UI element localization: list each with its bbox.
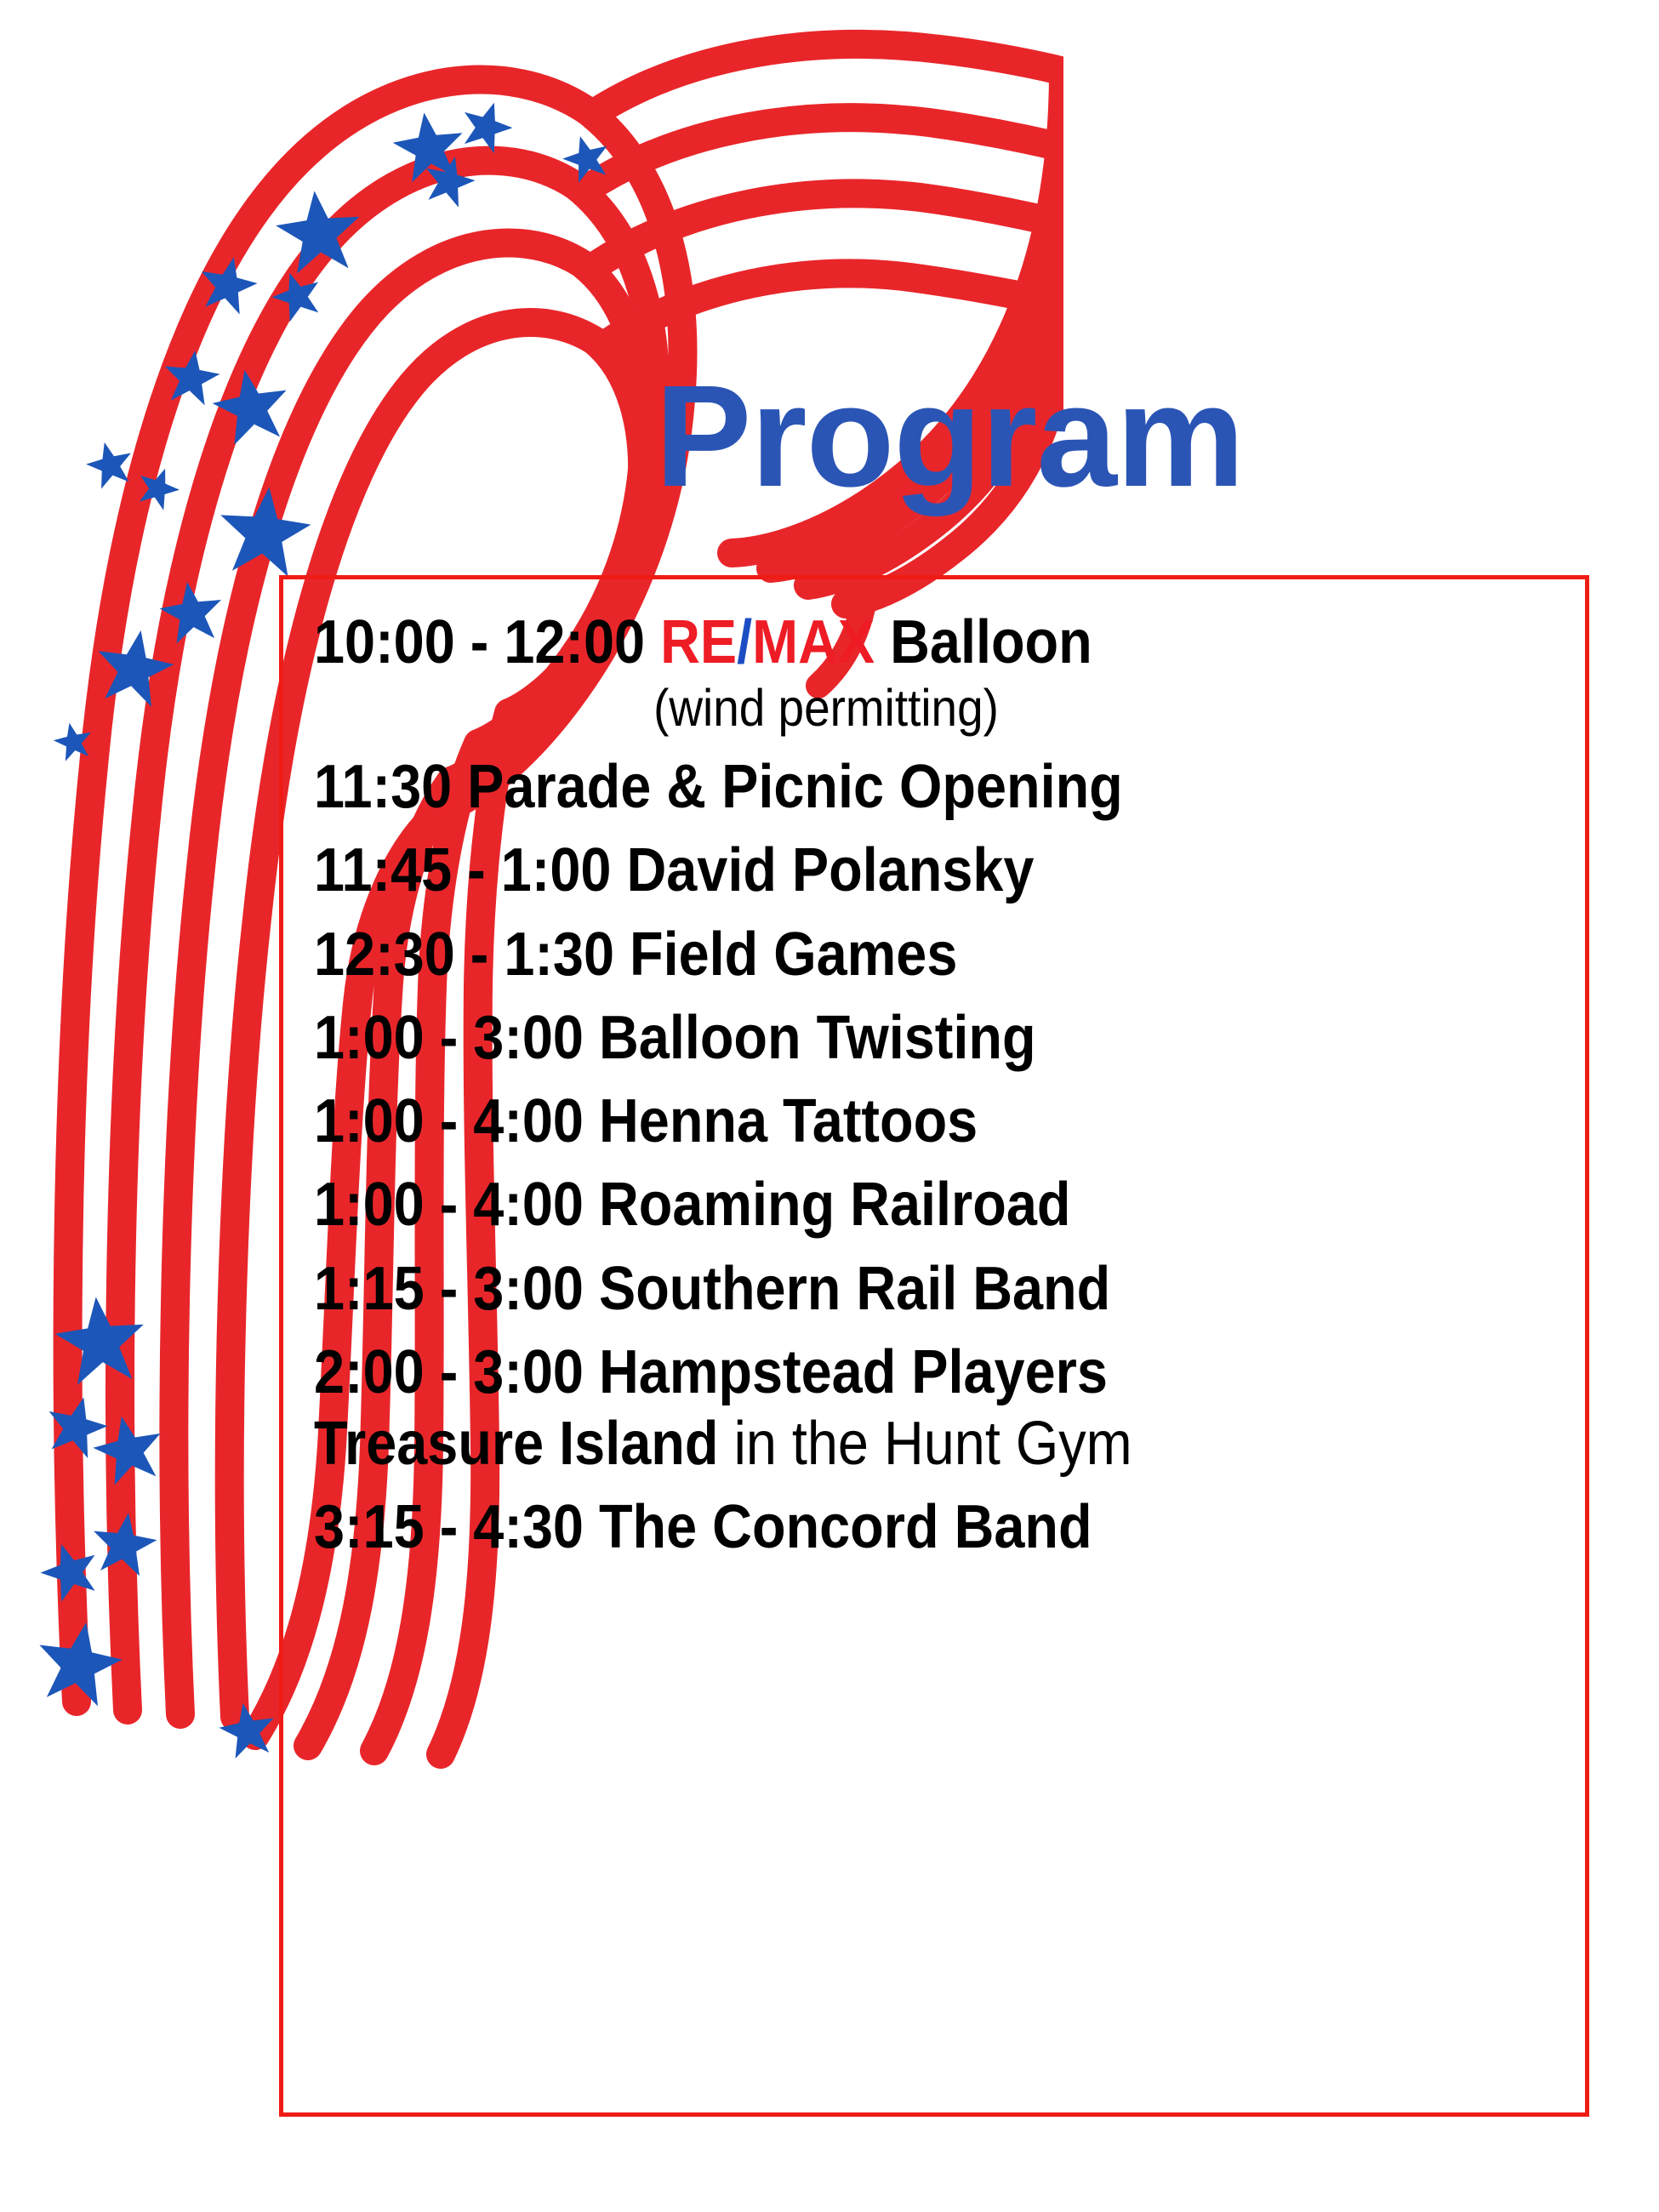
program-item-balloon-twisting: 1:00 - 3:00 Balloon Twisting	[314, 1002, 1568, 1074]
program-item-line: 1:00 - 4:00 Henna Tattoos	[314, 1086, 1443, 1157]
hunt-gym-location: in the Hunt Gym	[718, 1410, 1132, 1478]
program-item-line: 1:00 - 4:00 Roaming Railroad	[314, 1169, 1443, 1240]
program-item-parade-picnic-opening: 11:30 Parade & Picnic Opening	[314, 751, 1568, 823]
program-item-concord-band: 3:15 - 4:30 The Concord Band	[314, 1491, 1568, 1563]
program-item-southern-rail-band: 1:15 - 3:00 Southern Rail Band	[314, 1253, 1568, 1325]
program-item-line: 10:00 - 12:00 RE/MAX Balloon	[314, 607, 1443, 678]
program-item-roaming-railroad: 1:00 - 4:00 Roaming Railroad	[314, 1169, 1568, 1240]
program-box: 10:00 - 12:00 RE/MAX Balloon (wind permi…	[279, 575, 1589, 2117]
program-item-remax-balloon: 10:00 - 12:00 RE/MAX Balloon (wind permi…	[314, 607, 1568, 739]
program-list: 10:00 - 12:00 RE/MAX Balloon (wind permi…	[314, 607, 1568, 1564]
program-item-line: 11:30 Parade & Picnic Opening	[314, 751, 1443, 823]
program-item-line: 2:00 - 3:00 Hampstead Players	[314, 1337, 1443, 1408]
program-item-field-games: 12:30 - 1:30 Field Games	[314, 919, 1568, 990]
remax-re-text: RE	[660, 608, 737, 676]
program-item-time: 10:00 - 12:00	[314, 608, 660, 676]
program-item-line: 1:15 - 3:00 Southern Rail Band	[314, 1253, 1443, 1325]
program-item-title: Balloon	[875, 608, 1092, 676]
remax-slash-text: /	[737, 608, 752, 676]
program-item-line-2: Treasure Island in the Hunt Gym	[314, 1408, 1443, 1479]
program-item-henna-tattoos: 1:00 - 4:00 Henna Tattoos	[314, 1086, 1568, 1157]
program-item-david-polansky: 11:45 - 1:00 David Polansky	[314, 835, 1568, 906]
program-item-line: 12:30 - 1:30 Field Games	[314, 919, 1443, 990]
program-item-line: 1:00 - 3:00 Balloon Twisting	[314, 1002, 1443, 1074]
remax-max-text: MAX	[752, 608, 875, 676]
treasure-island-title: Treasure Island	[314, 1410, 718, 1478]
program-item-line: 3:15 - 4:30 The Concord Band	[314, 1491, 1443, 1563]
page-title: Program	[655, 364, 1244, 509]
program-item-hampstead-players: 2:00 - 3:00 Hampstead Players Treasure I…	[314, 1337, 1568, 1479]
program-item-line: 11:45 - 1:00 David Polansky	[314, 835, 1443, 906]
program-item-note: (wind permitting)	[377, 678, 1506, 739]
